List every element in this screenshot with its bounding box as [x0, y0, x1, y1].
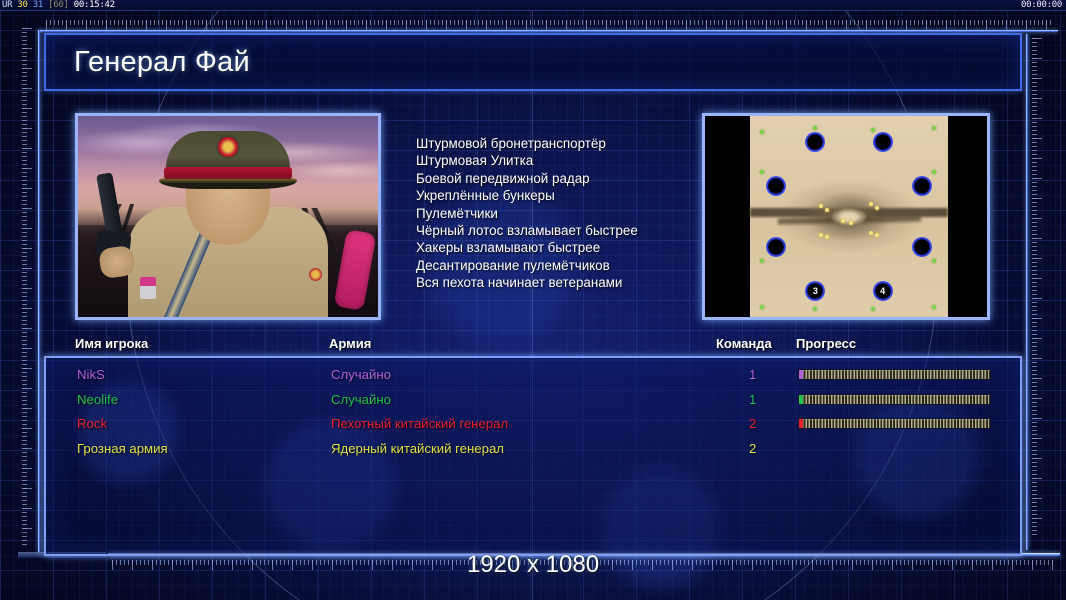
progress-bar-cap	[799, 419, 803, 428]
map-start-position	[912, 237, 932, 257]
table-row[interactable]: Грозная армияЯдерный китайский генерал2	[46, 438, 1020, 463]
column-header-team: Команда	[716, 336, 772, 351]
map-resource-marker	[875, 206, 879, 210]
general-portrait	[75, 113, 381, 320]
perf-label-cap: [60]	[48, 0, 68, 10]
map-supply-marker	[760, 305, 764, 309]
ability-item: Пулемётчики	[416, 205, 716, 222]
map-supply-marker	[760, 259, 764, 263]
map-preview-image: 34	[750, 116, 948, 317]
game-screen: UR 30 31 [60] 00:15:42 00:00:00 Генерал …	[0, 0, 1066, 600]
player-progress-bar	[798, 394, 991, 405]
ability-item: Штурмовой бронетранспортёр	[416, 135, 716, 152]
progress-bar-fill	[798, 394, 991, 405]
ability-item: Вся пехота начинает ветеранами	[416, 274, 716, 291]
player-name: Neolife	[77, 392, 118, 407]
map-supply-marker	[760, 130, 764, 134]
progress-bar-fill	[798, 418, 991, 429]
map-start-position: 4	[873, 281, 893, 301]
map-resource-marker	[869, 202, 873, 206]
map-supply-marker	[813, 126, 817, 130]
ability-item: Хакеры взламывают быстрее	[416, 239, 716, 256]
column-header-name: Имя игрока	[75, 336, 148, 351]
table-row[interactable]: NeolifeСлучайно1	[46, 389, 1020, 414]
ability-item: Штурмовая Улитка	[416, 152, 716, 169]
map-resource-marker	[825, 208, 829, 212]
player-progress-bar	[798, 369, 991, 380]
player-team: 2	[749, 441, 756, 456]
progress-bar-cap	[799, 370, 803, 379]
progress-bar-fill	[798, 369, 991, 380]
map-preview[interactable]: 34	[702, 113, 990, 320]
performance-hud-bar: UR 30 31 [60] 00:15:42 00:00:00	[0, 0, 1066, 11]
player-team: 1	[749, 367, 756, 382]
page-title: Генерал Фай	[74, 46, 250, 79]
resolution-label: 1920 x 1080	[0, 551, 1066, 579]
map-supply-marker	[932, 126, 936, 130]
map-start-position: 3	[805, 281, 825, 301]
map-start-position	[873, 132, 893, 152]
frame-line-top	[38, 30, 1058, 32]
perf-label-elapsed: 00:15:42	[74, 0, 115, 10]
frame-ruler-left	[22, 28, 32, 548]
player-name: Грозная армия	[77, 441, 168, 456]
map-resource-marker	[825, 235, 829, 239]
ability-item: Укреплённые бункеры	[416, 187, 716, 204]
map-start-position	[912, 176, 932, 196]
player-team: 1	[749, 392, 756, 407]
progress-bar-cap	[799, 395, 803, 404]
game-clock: 00:00:00	[1021, 0, 1062, 11]
player-name: NikS	[77, 367, 105, 382]
portrait-cap-band	[164, 167, 292, 179]
player-army: Случайно	[331, 367, 391, 382]
frame-ruler-right	[1032, 38, 1042, 538]
portrait-image	[78, 116, 378, 317]
map-resource-marker	[819, 204, 823, 208]
map-start-position	[766, 176, 786, 196]
player-progress-bar	[798, 418, 991, 429]
map-start-position	[766, 237, 786, 257]
players-table: NikSСлучайно1NeolifeСлучайно1RockПехотны…	[44, 356, 1022, 556]
map-resource-marker	[819, 233, 823, 237]
table-row[interactable]: NikSСлучайно1	[46, 364, 1020, 389]
general-abilities-list: Штурмовой бронетранспортёрШтурмовая Улит…	[416, 135, 716, 292]
map-supply-marker	[932, 305, 936, 309]
player-team: 2	[749, 416, 756, 431]
perf-label-fps: 30	[17, 0, 27, 10]
map-start-position	[805, 132, 825, 152]
players-table-header: Имя игрока Армия Команда Прогресс	[44, 336, 1022, 356]
player-army: Случайно	[331, 392, 391, 407]
performance-counter: UR 30 31 [60] 00:15:42	[2, 0, 115, 11]
map-supply-marker	[813, 307, 817, 311]
player-army: Пехотный китайский генерал	[331, 416, 508, 431]
column-header-army: Армия	[329, 336, 371, 351]
ability-item: Чёрный лотос взламывает быстрее	[416, 222, 716, 239]
portrait-cap-badge	[218, 137, 238, 157]
player-name: Rock	[77, 416, 107, 431]
perf-label-ur: UR	[2, 0, 12, 10]
perf-label-fps2: 31	[33, 0, 43, 10]
map-supply-marker	[871, 128, 875, 132]
frame-line-right	[1026, 34, 1028, 550]
map-resource-marker	[849, 221, 853, 225]
map-resource-marker	[841, 219, 845, 223]
player-army: Ядерный китайский генерал	[331, 441, 504, 456]
map-supply-marker	[871, 307, 875, 311]
frame-line-left	[38, 30, 40, 552]
title-bar: Генерал Фай	[44, 33, 1022, 91]
map-supply-marker	[932, 170, 936, 174]
map-supply-marker	[760, 170, 764, 174]
table-row[interactable]: RockПехотный китайский генерал2	[46, 413, 1020, 438]
ability-item: Боевой передвижной радар	[416, 170, 716, 187]
column-header-progress: Прогресс	[796, 336, 856, 351]
map-resource-marker	[869, 231, 873, 235]
portrait-insignia	[309, 268, 322, 281]
ability-item: Десантирование пулемётчиков	[416, 257, 716, 274]
map-resource-marker	[875, 233, 879, 237]
portrait-medal	[140, 277, 156, 299]
map-supply-marker	[932, 259, 936, 263]
frame-ruler-top	[46, 20, 1054, 30]
general-info-panel: Штурмовой бронетранспортёрШтурмовая Улит…	[44, 102, 1022, 332]
